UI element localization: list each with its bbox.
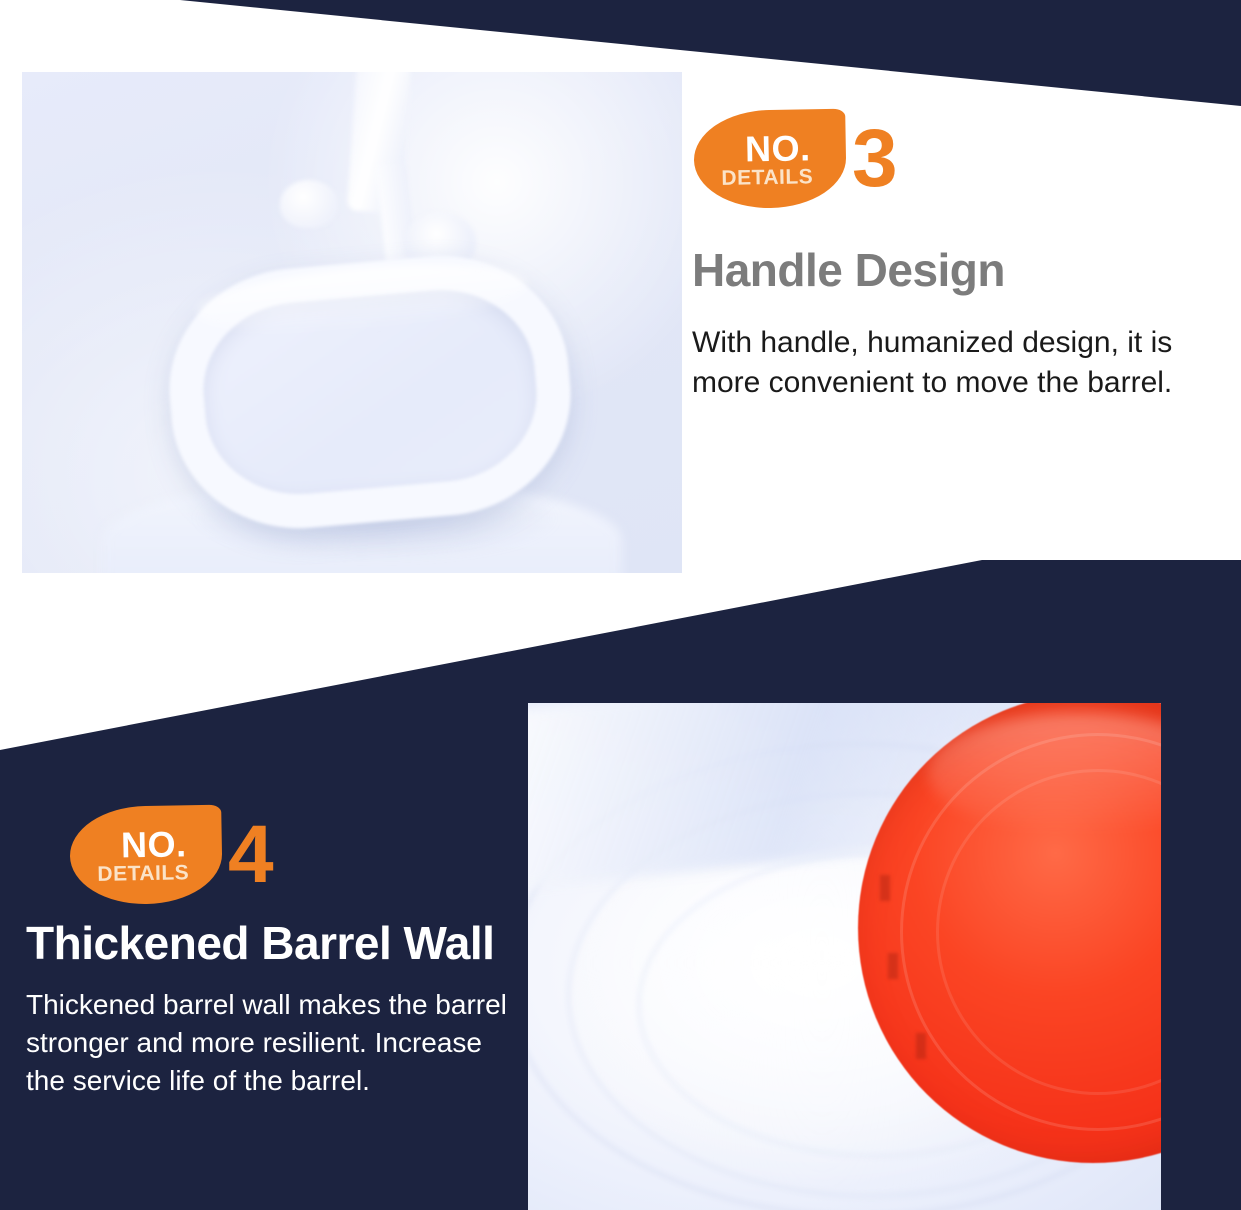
- detail-4-title: Thickened Barrel Wall: [26, 916, 536, 970]
- badge-number-4: 4: [228, 822, 274, 888]
- detail-4-text-block: Thickened Barrel Wall Thickened barrel w…: [26, 916, 536, 1100]
- badge-teardrop-4: NO. DETAILS: [69, 805, 223, 906]
- badge-details-label-4: DETAILS: [97, 862, 189, 885]
- badge-details-label-3: DETAILS: [721, 166, 813, 189]
- detail-4-body-line: Thickened barrel wall makes the barrel: [26, 986, 536, 1024]
- badge-teardrop-3: NO. DETAILS: [693, 109, 847, 210]
- handle-photo: [22, 72, 682, 573]
- barrel-photo: [528, 703, 1161, 1210]
- red-lid-notch: [916, 1033, 926, 1059]
- badge-number-3: 3: [852, 126, 898, 192]
- red-lid-notch: [880, 875, 890, 901]
- detail-4-badge: NO. DETAILS 4: [70, 806, 274, 904]
- detail-3-body: With handle, humanized design, it is mor…: [692, 323, 1212, 403]
- detail-3-title: Handle Design: [692, 243, 1212, 297]
- detail-3-badge: NO. DETAILS 3: [694, 110, 898, 208]
- handle-lug-left: [280, 180, 338, 228]
- detail-3-text-block: Handle Design With handle, humanized des…: [692, 243, 1212, 403]
- red-lid-notch: [888, 953, 898, 979]
- detail-4-body-line: the service life of the barrel.: [26, 1062, 536, 1100]
- badge-no-label-3: NO.: [745, 132, 811, 167]
- badge-no-label-4: NO.: [121, 828, 187, 863]
- product-detail-poster: NO. DETAILS 3 Handle Design With handle,…: [0, 0, 1241, 1210]
- detail-4-body-line: stronger and more resilient. Increase: [26, 1024, 536, 1062]
